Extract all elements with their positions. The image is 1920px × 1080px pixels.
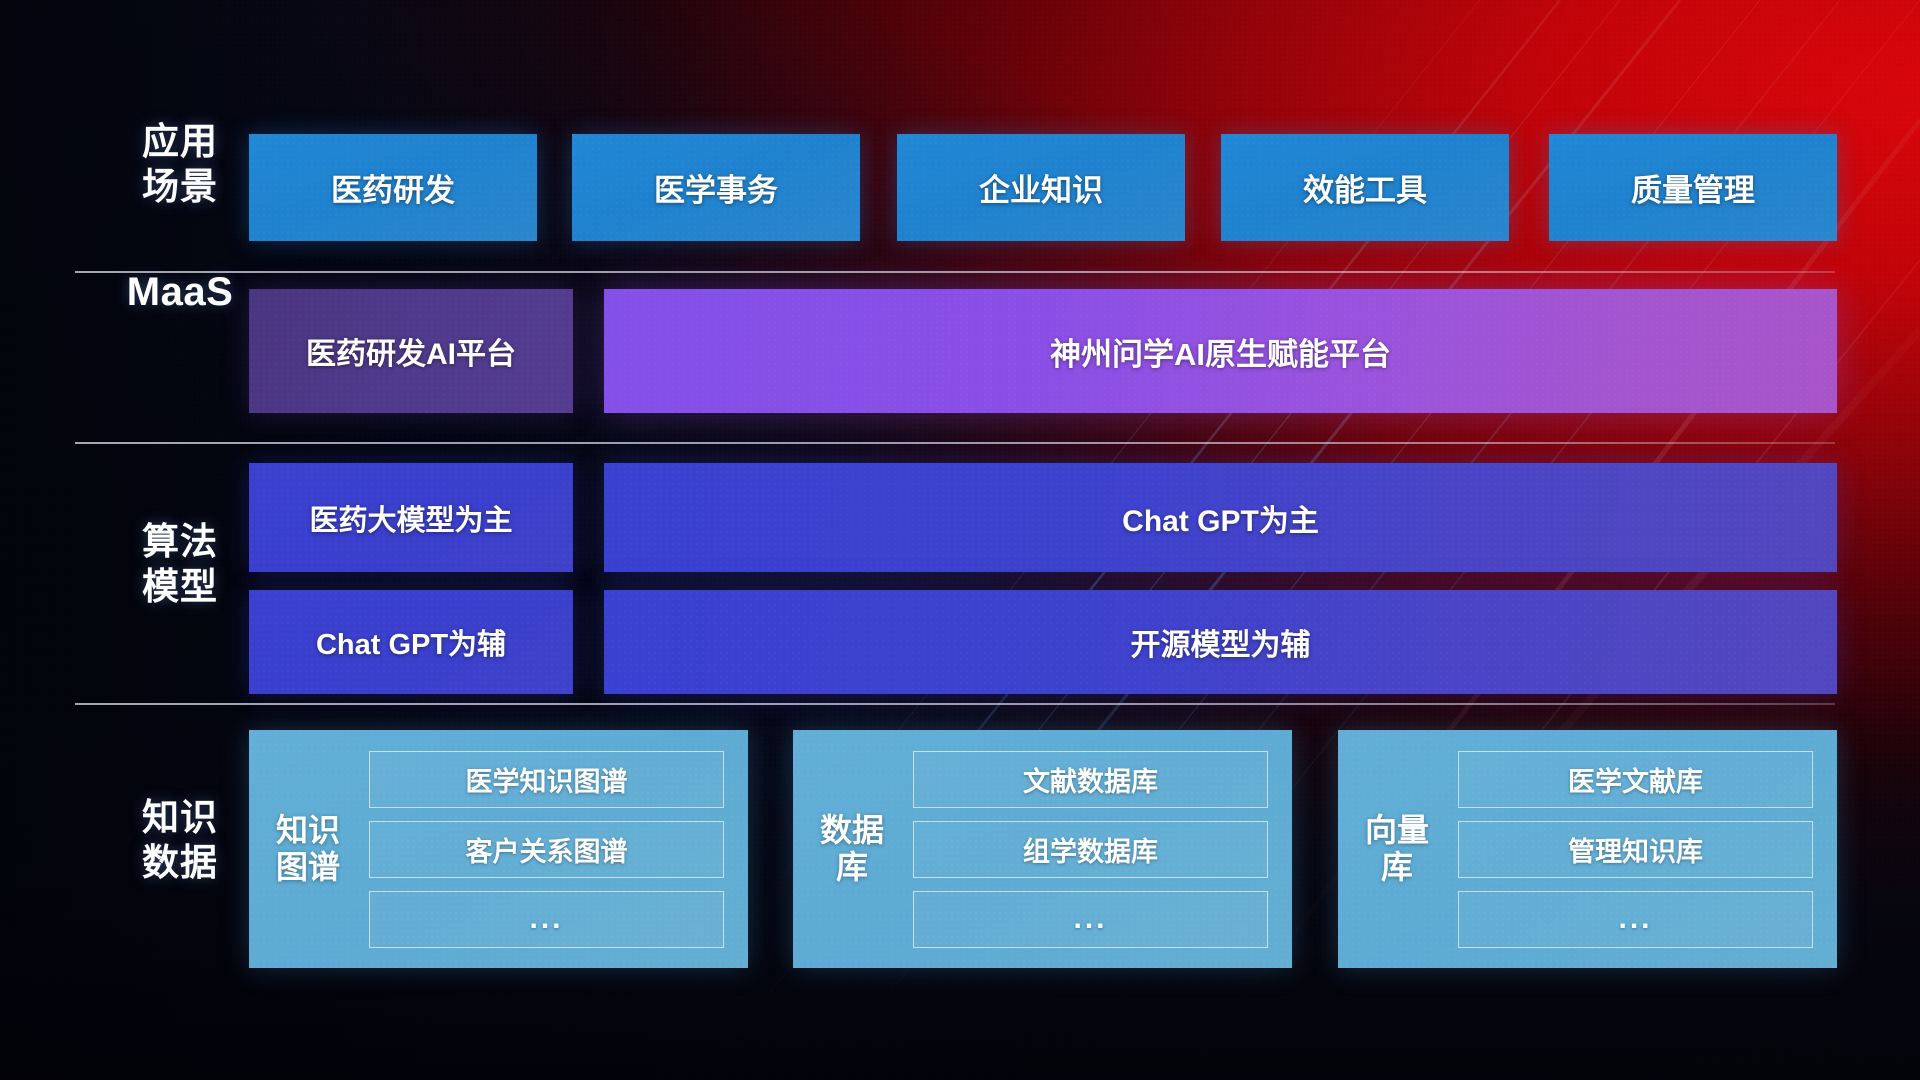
slide-canvas: 应用 场景 医药研发 医学事务 企业知识 效能工具 质量管理 MaaS 医药研发… xyxy=(0,0,1920,1080)
knowledge-group-database[interactable]: 数据 库 文献数据库 组学数据库 ... xyxy=(793,730,1292,968)
app-card-3[interactable]: 企业知识 xyxy=(897,134,1185,241)
knowledge-group-knowledge-graph-items: 医学知识图谱 客户关系图谱 ... xyxy=(369,751,724,948)
app-card-2-label: 医学事务 xyxy=(654,165,778,210)
app-card-4[interactable]: 效能工具 xyxy=(1221,134,1509,241)
divider-3 xyxy=(75,703,1835,705)
app-card-5[interactable]: 质量管理 xyxy=(1549,134,1837,241)
maas-platform-card-left-label: 医药研发AI平台 xyxy=(306,329,516,373)
algorithm-card-right-2-label: 开源模型为辅 xyxy=(1131,620,1311,664)
knowledge-item[interactable]: 医学知识图谱 xyxy=(369,751,724,808)
knowledge-group-vector-database-items: 医学文献库 管理知识库 ... xyxy=(1458,751,1813,948)
row-label-application-scenario: 应用 场景 xyxy=(95,119,265,209)
app-card-4-label: 效能工具 xyxy=(1303,165,1427,210)
app-card-5-label: 质量管理 xyxy=(1631,165,1755,210)
knowledge-item[interactable]: 医学文献库 xyxy=(1458,751,1813,808)
knowledge-group-vector-database[interactable]: 向量 库 医学文献库 管理知识库 ... xyxy=(1338,730,1837,968)
knowledge-item[interactable]: 组学数据库 xyxy=(913,821,1268,878)
algorithm-card-left-2-label: Chat GPT为辅 xyxy=(316,621,506,663)
row-label-algorithm-model: 算法 模型 xyxy=(95,519,265,609)
algorithm-card-right-2[interactable]: 开源模型为辅 xyxy=(604,590,1837,694)
row-label-maas: MaaS xyxy=(95,268,265,317)
app-card-1-label: 医药研发 xyxy=(331,165,455,210)
divider-1 xyxy=(75,271,1835,273)
knowledge-group-knowledge-graph[interactable]: 知识 图谱 医学知识图谱 客户关系图谱 ... xyxy=(249,730,748,968)
algorithm-card-left-1-label: 医药大模型为主 xyxy=(309,497,512,539)
knowledge-item-more[interactable]: ... xyxy=(369,891,724,948)
algorithm-card-right-1[interactable]: Chat GPT为主 xyxy=(604,463,1837,572)
knowledge-item[interactable]: 文献数据库 xyxy=(913,751,1268,808)
knowledge-item[interactable]: 管理知识库 xyxy=(1458,821,1813,878)
knowledge-item[interactable]: 客户关系图谱 xyxy=(369,821,724,878)
algorithm-card-right-1-label: Chat GPT为主 xyxy=(1122,496,1319,540)
maas-platform-card-left[interactable]: 医药研发AI平台 xyxy=(249,289,573,413)
knowledge-group-knowledge-graph-title: 知识 图谱 xyxy=(265,812,351,886)
divider-2 xyxy=(75,442,1835,444)
knowledge-group-vector-database-title: 向量 库 xyxy=(1354,812,1440,886)
algorithm-card-left-2[interactable]: Chat GPT为辅 xyxy=(249,590,573,694)
knowledge-item-more[interactable]: ... xyxy=(1458,891,1813,948)
maas-platform-card-right-label: 神州问学AI原生赋能平台 xyxy=(1050,329,1391,374)
app-card-2[interactable]: 医学事务 xyxy=(572,134,860,241)
app-card-3-label: 企业知识 xyxy=(979,165,1103,210)
row-label-knowledge-data: 知识 数据 xyxy=(95,795,265,885)
maas-platform-card-right[interactable]: 神州问学AI原生赋能平台 xyxy=(604,289,1837,413)
knowledge-item-more[interactable]: ... xyxy=(913,891,1268,948)
knowledge-group-database-title: 数据 库 xyxy=(809,812,895,886)
app-card-1[interactable]: 医药研发 xyxy=(249,134,537,241)
algorithm-card-left-1[interactable]: 医药大模型为主 xyxy=(249,463,573,572)
knowledge-group-database-items: 文献数据库 组学数据库 ... xyxy=(913,751,1268,948)
